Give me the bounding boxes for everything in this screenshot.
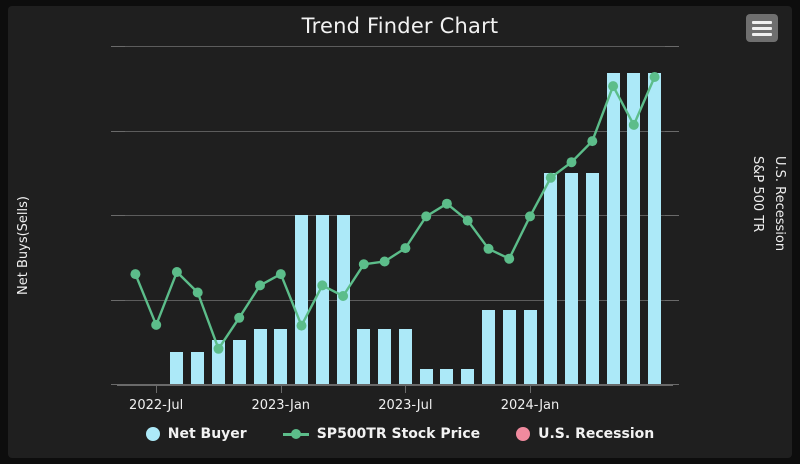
y-axis-right-title-sp500: S&P 500 TR bbox=[750, 156, 765, 232]
menu-bar-2 bbox=[752, 27, 772, 30]
chart-legend: Net BuyerSP500TR Stock PriceU.S. Recessi… bbox=[8, 426, 792, 442]
line-data-point[interactable] bbox=[234, 313, 244, 323]
line-data-point[interactable] bbox=[130, 269, 140, 279]
y-tick-mark-left bbox=[111, 215, 125, 216]
y-tick-mark-left bbox=[111, 300, 125, 301]
x-tick-label: 2023-Jul bbox=[378, 398, 432, 413]
y-tick-mark-right bbox=[665, 215, 679, 216]
x-axis-line bbox=[117, 384, 673, 386]
x-tick-mark bbox=[405, 384, 406, 393]
line-data-point[interactable] bbox=[276, 269, 286, 279]
line-data-point[interactable] bbox=[421, 211, 431, 221]
line-data-point[interactable] bbox=[400, 243, 410, 253]
x-tick-mark bbox=[281, 384, 282, 393]
line-data-point[interactable] bbox=[463, 216, 473, 226]
line-data-point[interactable] bbox=[484, 244, 494, 254]
page-title: Trend Finder Chart bbox=[8, 14, 792, 38]
line-data-point[interactable] bbox=[193, 288, 203, 298]
y-tick-mark-left bbox=[111, 46, 125, 47]
line-data-point[interactable] bbox=[297, 321, 307, 331]
line-data-point[interactable] bbox=[650, 72, 660, 82]
line-data-point[interactable] bbox=[338, 291, 348, 301]
x-tick-mark bbox=[530, 384, 531, 393]
line-data-point[interactable] bbox=[214, 344, 224, 354]
plot-area: 0.00040.000k80.000k120.000k160.000k 7.20… bbox=[125, 46, 665, 384]
legend-label: SP500TR Stock Price bbox=[317, 426, 480, 442]
y-tick-mark-right bbox=[665, 46, 679, 47]
y-axis-left-title: Net Buys(Sells) bbox=[16, 196, 31, 295]
y-axis-right-title-recession: U.S. Recession bbox=[772, 156, 787, 251]
line-series-sp500tr bbox=[125, 46, 665, 384]
legend-item-1[interactable]: SP500TR Stock Price bbox=[283, 426, 480, 442]
legend-circle-marker-icon bbox=[146, 427, 160, 441]
x-tick-mark bbox=[156, 384, 157, 393]
y-tick-mark-right bbox=[665, 131, 679, 132]
line-data-point[interactable] bbox=[587, 136, 597, 146]
x-tick-label: 2023-Jan bbox=[251, 398, 310, 413]
legend-line-marker-icon bbox=[283, 427, 309, 441]
line-path bbox=[135, 77, 654, 349]
y-tick-mark-left bbox=[111, 131, 125, 132]
chart-screenshot: Trend Finder Chart Net Buys(Sells) S&P 5… bbox=[0, 0, 800, 464]
legend-label: U.S. Recession bbox=[538, 426, 654, 442]
line-data-point[interactable] bbox=[567, 157, 577, 167]
hamburger-menu-icon[interactable] bbox=[746, 14, 778, 42]
line-data-point[interactable] bbox=[255, 280, 265, 290]
line-data-point[interactable] bbox=[172, 267, 182, 277]
menu-bar-1 bbox=[752, 21, 772, 24]
line-data-point[interactable] bbox=[380, 257, 390, 267]
line-data-point[interactable] bbox=[608, 81, 618, 91]
line-data-point[interactable] bbox=[359, 259, 369, 269]
line-data-point[interactable] bbox=[442, 199, 452, 209]
line-data-point[interactable] bbox=[151, 320, 161, 330]
y-tick-mark-right bbox=[665, 300, 679, 301]
menu-bar-3 bbox=[752, 33, 772, 36]
chart-card: Trend Finder Chart Net Buys(Sells) S&P 5… bbox=[8, 6, 792, 458]
legend-label: Net Buyer bbox=[168, 426, 247, 442]
x-tick-label: 2022-Jul bbox=[129, 398, 183, 413]
line-data-point[interactable] bbox=[546, 173, 556, 183]
line-data-point[interactable] bbox=[629, 120, 639, 130]
legend-circle-marker-icon bbox=[516, 427, 530, 441]
legend-item-2[interactable]: U.S. Recession bbox=[516, 426, 654, 442]
legend-item-0[interactable]: Net Buyer bbox=[146, 426, 247, 442]
line-data-point[interactable] bbox=[317, 280, 327, 290]
line-data-point[interactable] bbox=[525, 211, 535, 221]
line-data-point[interactable] bbox=[504, 254, 514, 264]
x-tick-label: 2024-Jan bbox=[501, 398, 560, 413]
